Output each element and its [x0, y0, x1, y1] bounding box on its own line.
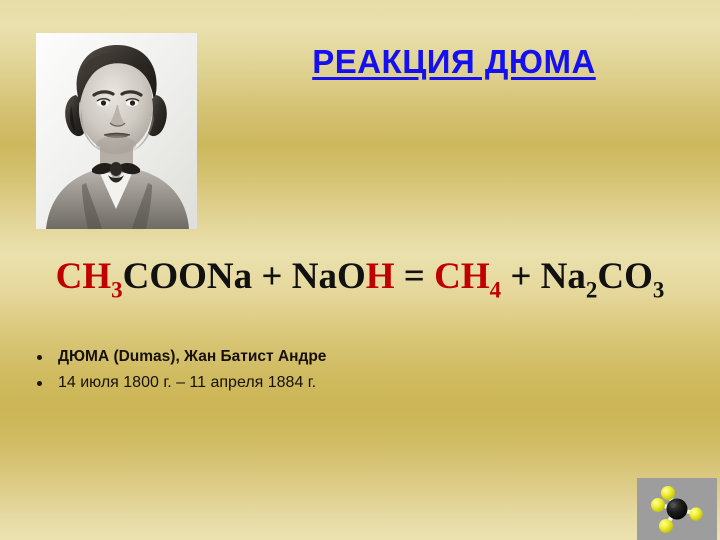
chemical-equation: CH3COONa + NaOH = CH4 + Na2CO3	[0, 258, 720, 295]
equation-plus-na: + Na	[501, 256, 586, 297]
hydrogen-atom	[689, 507, 702, 520]
equation-ch4-sub: 4	[490, 278, 501, 303]
bullet-text-dates: 14 июля 1800 г. – 11 апреля 1884 г.	[58, 374, 316, 391]
bullet-dot-icon	[37, 381, 42, 386]
equation-ch4: CH	[434, 256, 490, 297]
hydrogen-atom	[651, 498, 665, 512]
equation-equals: =	[395, 256, 435, 297]
equation-ch3: CH	[56, 256, 112, 297]
equation-ch3-sub: 3	[111, 278, 122, 303]
hydrogen-atom	[659, 519, 673, 533]
list-item: ДЮМА (Dumas), Жан Батист Андре	[32, 347, 432, 367]
page-title: РЕАКЦИЯ ДЮМА	[214, 45, 694, 80]
list-item: 14 июля 1800 г. – 11 апреля 1884 г.	[32, 373, 432, 393]
equation-co: CO	[597, 256, 653, 297]
equation-coona-naoh: COONa + NaO	[123, 256, 366, 297]
methane-molecule-icon	[637, 478, 717, 540]
hydrogen-atom	[661, 486, 675, 500]
slide-canvas: РЕАКЦИЯ ДЮМА CH3COONa + NaOH = CH4 + Na2…	[0, 0, 720, 540]
equation-hydroxide-h: H	[366, 256, 395, 297]
equation-co3-sub: 3	[653, 278, 664, 303]
carbon-atom	[667, 499, 688, 520]
portrait-dumas	[36, 33, 197, 229]
equation-na2-sub: 2	[586, 278, 597, 303]
bullet-list: ДЮМА (Dumas), Жан Батист Андре 14 июля 1…	[32, 347, 432, 399]
methane-molecule-badge	[637, 478, 717, 540]
bullet-dot-icon	[37, 355, 42, 360]
portrait-image	[36, 33, 197, 229]
bullet-text-name: ДЮМА (Dumas), Жан Батист Андре	[58, 348, 326, 365]
